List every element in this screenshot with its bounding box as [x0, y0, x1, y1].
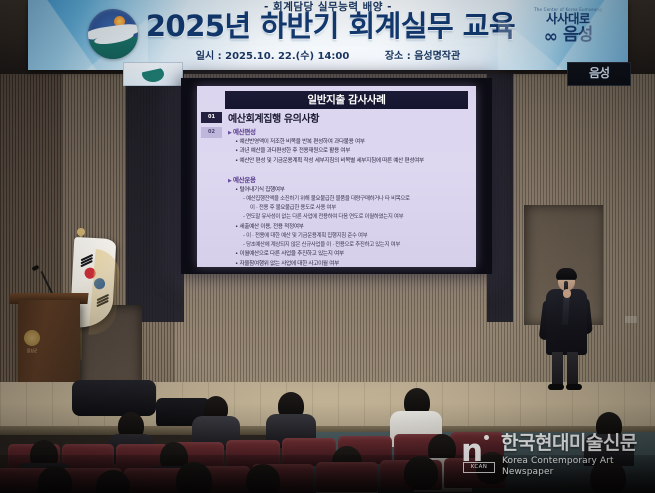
slide-bullet: 이월예산으로 다른 사업을 추진하고 있는지 여부	[235, 251, 468, 258]
slide-block-heading: 예산운용	[228, 174, 468, 184]
wall-sign-right: 음성	[567, 62, 631, 86]
brand-line2: 음성	[563, 25, 592, 45]
slide-bullet: 세출예산 이용, 전용 적정여부	[235, 224, 468, 231]
slide-block-heading: 예산편성	[228, 126, 468, 136]
flag-finial	[77, 228, 85, 236]
slide-tab-02: 02	[201, 127, 222, 138]
kcan-badge: KCAN	[463, 462, 495, 473]
speaker-right-leg	[567, 352, 578, 387]
slide-title-bar: 일반지출 감사사례	[225, 91, 468, 109]
speaker-right-shoe	[566, 384, 582, 390]
slide-bullet: 이 · 전용에 대한 예산 및 기금운용계획 집행지침 준수 여부	[243, 233, 468, 240]
auditorium-photo: - 회계담당 실무능력 배양 - 2025년 하반기 회계실무 교육 일시 : …	[0, 0, 655, 493]
eumseong-mark-icon	[142, 66, 164, 82]
podium-label: 음성군	[21, 348, 43, 354]
wall-sign-right-label: 음성	[568, 63, 630, 83]
brand-line1: 사사대로	[530, 12, 606, 25]
newspaper-watermark: n KCAN 한국현대미술신문 Korea Contemporary Art N…	[461, 431, 643, 475]
banner-date: 일시 : 2025.10. 22.(수) 14:00	[196, 51, 350, 62]
slide-bullet: 자율참여행위 없는 사업에 대한 사고이월 여부	[235, 261, 468, 267]
podium-emblem-icon	[24, 330, 40, 346]
watermark-korean-name: 한국현대미술신문	[501, 433, 637, 454]
speaker-left-leg	[552, 352, 563, 387]
slide-bullet: 예산반영액이 저조한 비목을 반복 편성하여 과다불용 여부	[235, 139, 468, 146]
wall-sign-left	[123, 62, 183, 86]
wall-outlet	[625, 316, 637, 323]
event-banner: - 회계담당 실무능력 배양 - 2025년 하반기 회계실무 교육 일시 : …	[28, 0, 628, 70]
brand-tagline: The Center of Korea Eumseong	[530, 7, 606, 12]
slide-spacer	[228, 167, 468, 174]
slide-bullet: 예산안 편성 및 기금운용계획 작성 세부지침의 비목별 세부지침에 따른 예산…	[235, 158, 468, 165]
slide-bullet: 예산집행잔액을 소진하기 위해 불요불급한 물품을 대량구매하거나 타 비목으로	[243, 196, 468, 203]
eumseong-county-emblem-icon	[88, 9, 138, 59]
slide-bullet: 당초예산에 계상되지 않은 신규사업을 이 · 전용으로 추진하고 있는지 여부	[243, 242, 468, 249]
projection-screen: 일반지출 감사사례 01 02 예산회계집행 유의사항 예산편성 예산반영액이 …	[181, 78, 492, 274]
slide-bullet: 털어내기식 집행여부	[235, 187, 468, 194]
equipment-case	[72, 380, 156, 416]
speaker-hand	[563, 289, 571, 298]
infinity-icon: ∞	[544, 29, 558, 46]
slide-bullet: 이 · 전용 후 불요불급한 용도로 사용 여부	[250, 205, 468, 212]
slide-bullet: 과년 예산을 과다편성한 후 전용재원으로 활용 여부	[235, 148, 468, 155]
speaker-left-shoe	[548, 384, 564, 390]
slide-tab-01: 01	[201, 112, 222, 123]
dark-acoustic-panel-left	[126, 72, 184, 322]
logo-dot-icon	[484, 435, 489, 440]
banner-place: 장소 : 음성명작관	[385, 51, 460, 62]
eumseong-city-brand-logo: The Center of Korea Eumseong 사사대로 ∞ 음성	[530, 7, 606, 61]
slide-body: 예산편성 예산반영액이 저조한 비목을 반복 편성하여 과다불용 여부 과년 예…	[228, 126, 468, 267]
slide-bullet: 연도말 유사성이 없는 다른 사업에 전용하여 다음 연도로 이월하였는지 여부	[243, 214, 468, 221]
slide-title: 일반지출 감사사례	[225, 91, 468, 109]
banner-title: 2025년 하반기 회계실무 교육	[128, 11, 533, 41]
presentation-slide: 일반지출 감사사례 01 02 예산회계집행 유의사항 예산편성 예산반영액이 …	[197, 86, 476, 267]
kcan-logo-icon: n KCAN	[461, 432, 495, 472]
slide-section-heading: 예산회계집행 유의사항	[228, 110, 319, 125]
watermark-english-name: Korea Contemporary Art Newspaper	[502, 456, 643, 478]
